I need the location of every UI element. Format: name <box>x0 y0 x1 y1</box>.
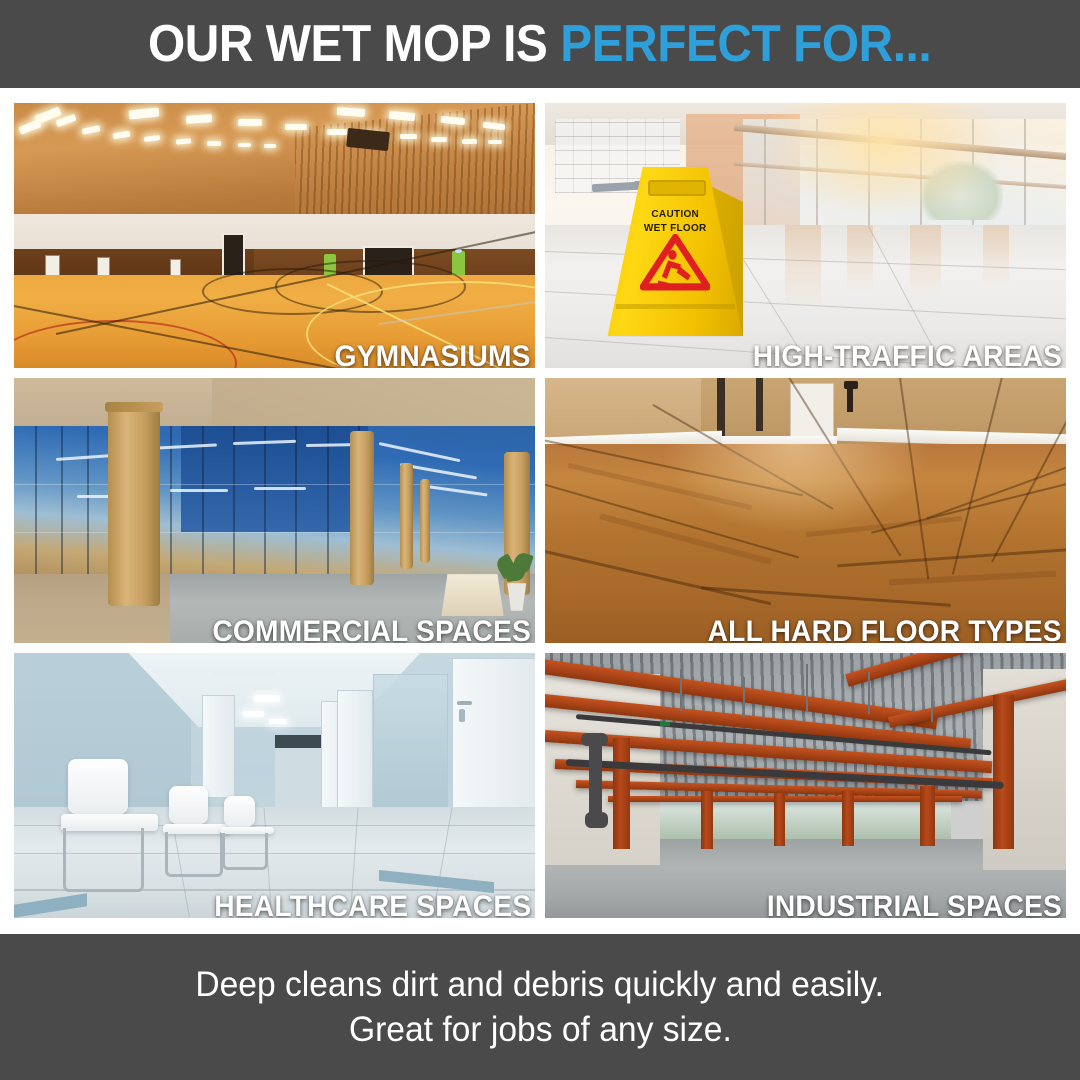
use-case-grid: GYMNASIUMS <box>14 103 1066 918</box>
tile-label: GYMNASIUMS <box>335 342 531 368</box>
page-title-primary: OUR WET MOP IS <box>148 15 560 73</box>
tile-label: INDUSTRIAL SPACES <box>767 892 1062 918</box>
caution-sign-line1: CAUTION <box>608 209 743 221</box>
commercial-lobby-photo <box>14 378 535 643</box>
tile-label: HEALTHCARE SPACES <box>214 892 531 918</box>
gymnasium-photo <box>14 103 535 368</box>
footer-banner: Deep cleans dirt and debris quickly and … <box>0 934 1080 1080</box>
use-case-tile-high-traffic-areas: CAUTION WET FLOOR HIGH-TRAFFIC AREAS <box>545 103 1066 368</box>
page-title-accent: PERFECT FOR... <box>561 15 932 73</box>
hardwood-floor-photo <box>545 378 1066 643</box>
header-banner: OUR WET MOP IS PERFECT FOR... <box>0 0 1080 88</box>
page-title: OUR WET MOP IS PERFECT FOR... <box>148 18 931 70</box>
use-case-tile-commercial-spaces: COMMERCIAL SPACES <box>14 378 535 643</box>
use-case-tile-industrial-spaces: INDUSTRIAL SPACES <box>545 653 1066 918</box>
use-case-tile-healthcare-spaces: HEALTHCARE SPACES <box>14 653 535 918</box>
tile-label: COMMERCIAL SPACES <box>212 617 531 643</box>
high-traffic-corridor-photo: CAUTION WET FLOOR <box>545 103 1066 368</box>
industrial-warehouse-photo <box>545 653 1066 918</box>
footer-line-1: Deep cleans dirt and debris quickly and … <box>196 962 885 1008</box>
tile-label: ALL HARD FLOOR TYPES <box>708 617 1062 643</box>
tile-label: HIGH-TRAFFIC AREAS <box>753 342 1062 368</box>
caution-sign-line2: WET FLOOR <box>608 223 743 235</box>
clinic-corridor-photo <box>14 653 535 918</box>
use-case-tile-gymnasiums: GYMNASIUMS <box>14 103 535 368</box>
slip-hazard-icon <box>640 234 710 292</box>
footer-line-2: Great for jobs of any size. <box>349 1007 732 1053</box>
use-case-tile-all-hard-floor-types: ALL HARD FLOOR TYPES <box>545 378 1066 643</box>
product-infographic: OUR WET MOP IS PERFECT FOR... <box>0 0 1080 1080</box>
caution-wet-floor-sign: CAUTION WET FLOOR <box>608 167 743 337</box>
